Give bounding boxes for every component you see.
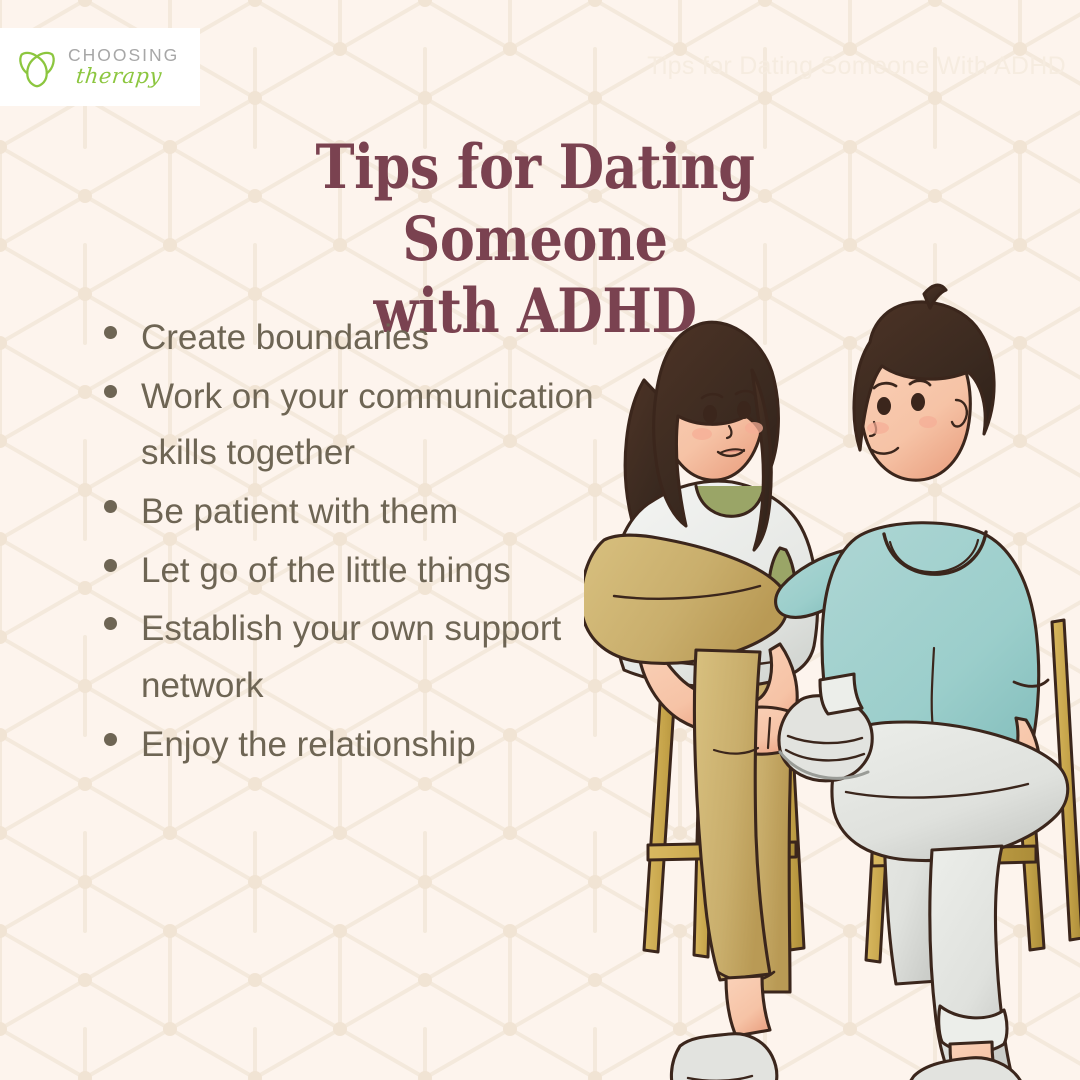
tip-label: Be patient with them [141, 484, 458, 541]
list-item: Enjoy the relationship [104, 717, 624, 774]
list-item: Let go of the little things [104, 543, 624, 600]
title-line-1: Tips for Dating Someone [204, 132, 866, 276]
bullet-icon [104, 733, 117, 746]
list-item: Work on your communication skills togeth… [104, 369, 624, 482]
woman-shoe [671, 1034, 776, 1080]
tip-label: Create boundaries [141, 310, 429, 367]
tip-label: Work on your communication skills togeth… [141, 369, 624, 482]
logo-word-choosing: CHOOSING [68, 47, 179, 65]
watermark-text: Tips for Dating Someone With ADHD [647, 52, 1066, 81]
woman-eye-right [737, 401, 751, 419]
list-item: Establish your own support network [104, 601, 624, 714]
bullet-icon [104, 385, 117, 398]
tip-label: Establish your own support network [141, 601, 624, 714]
bullet-icon [104, 326, 117, 339]
infographic-poster: CHOOSING therapy Tips for Dating Someone… [0, 0, 1080, 1080]
brand-logo[interactable]: CHOOSING therapy [0, 28, 200, 106]
bullet-icon [104, 617, 117, 630]
bullet-icon [104, 500, 117, 513]
man-raised-sock [820, 674, 862, 714]
woman-eye-left [703, 405, 717, 423]
man-eye-right [911, 393, 925, 411]
list-item: Be patient with them [104, 484, 624, 541]
tip-label: Enjoy the relationship [141, 717, 476, 774]
list-item: Create boundaries [104, 310, 624, 367]
logo-word-therapy: therapy [75, 66, 181, 87]
man-eye-left [877, 397, 891, 415]
bullet-icon [104, 559, 117, 572]
woman-ankle [726, 976, 770, 1036]
couple-illustration [584, 250, 1080, 1080]
tips-list: Create boundaries Work on your communica… [104, 310, 624, 776]
tip-label: Let go of the little things [141, 543, 511, 600]
lotus-leaf-icon [14, 44, 60, 90]
